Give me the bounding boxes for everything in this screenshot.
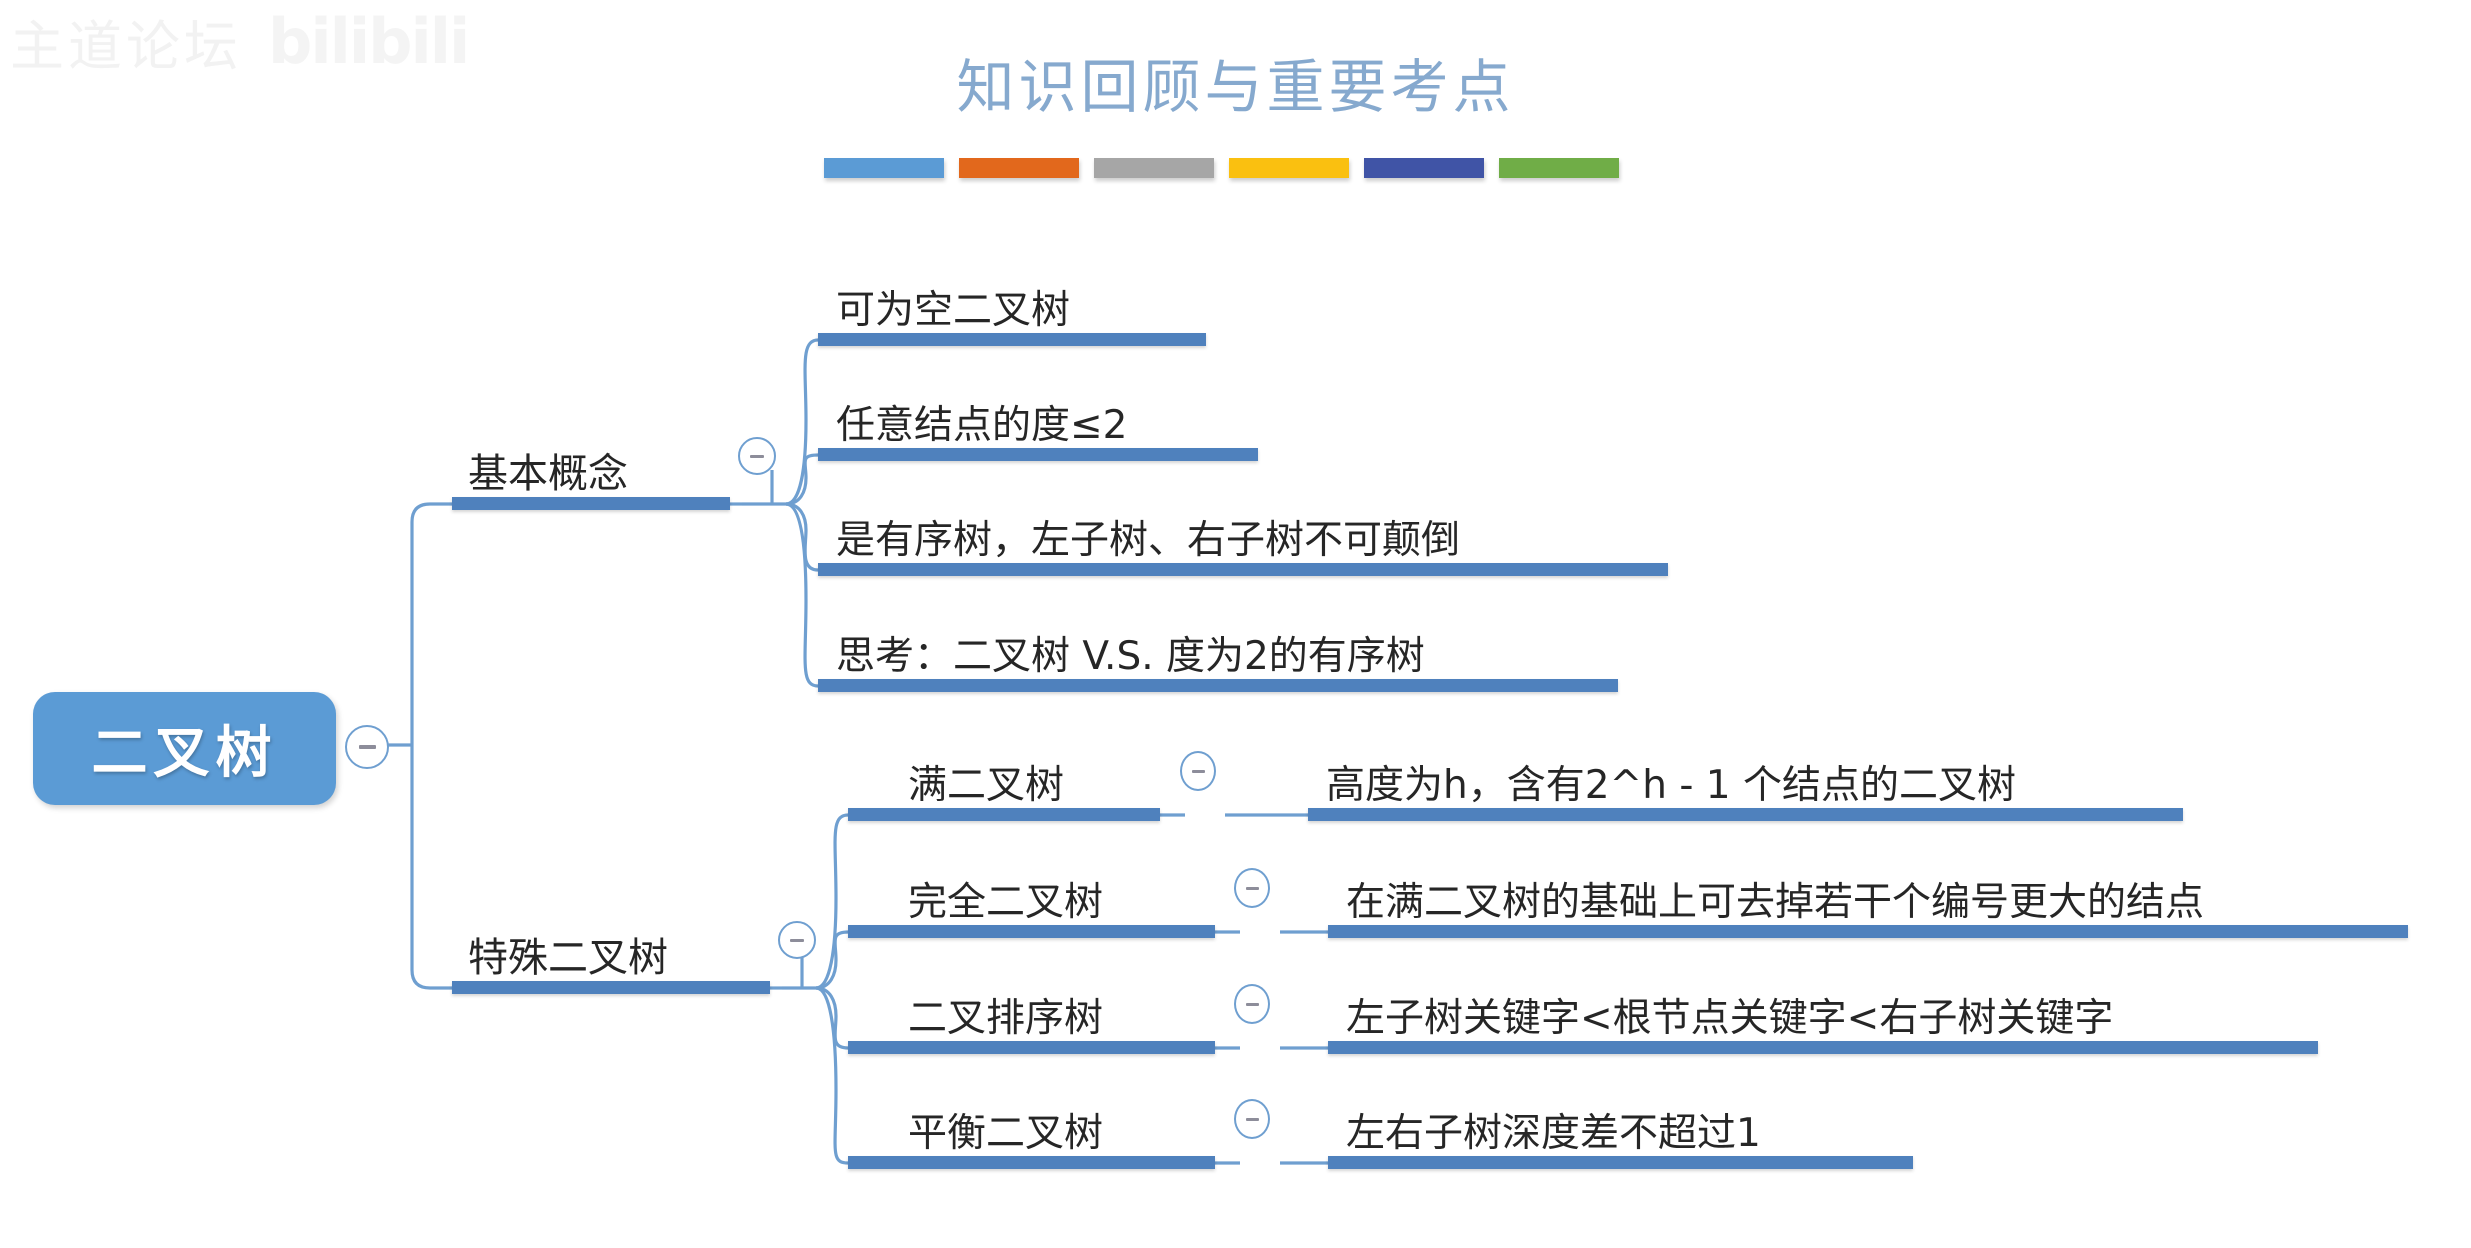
node-binary-search-tree-toggle[interactable] <box>1234 984 1270 1024</box>
minus-icon <box>1246 887 1259 890</box>
branch-basic-concepts-label: 基本概念 <box>468 441 628 499</box>
node-full-binary-tree-toggle[interactable] <box>1180 751 1216 791</box>
node-label: 可为空二叉树 <box>836 279 1070 335</box>
branch-special-binary-trees-label: 特殊二叉树 <box>468 925 668 983</box>
branch-basic-concepts-toggle[interactable] <box>738 437 776 475</box>
node-label: 左子树关键字<根节点关键字<右子树关键字 <box>1346 987 2113 1043</box>
minus-icon <box>1246 1003 1259 1006</box>
title-accent-bars <box>824 158 1619 178</box>
node-complete-binary-tree[interactable]: 完全二叉树 <box>848 858 1215 938</box>
accent-bar-navy <box>1364 158 1484 178</box>
node-underline-bar <box>1308 808 2183 821</box>
node-ordered-tree[interactable]: 是有序树，左子树、右子树不可颠倒 <box>818 496 1668 576</box>
node-balanced-binary-tree-toggle[interactable] <box>1234 1099 1270 1139</box>
node-underline-bar <box>848 808 1160 821</box>
node-label: 二叉排序树 <box>908 987 1103 1043</box>
node-underline-bar <box>848 1041 1215 1054</box>
node-full-binary-tree-detail[interactable]: 高度为h，含有2^h - 1 个结点的二叉树 <box>1308 741 2183 821</box>
node-label: 完全二叉树 <box>908 871 1103 927</box>
node-balanced-binary-tree-detail[interactable]: 左右子树深度差不超过1 <box>1328 1089 1913 1169</box>
node-label: 任意结点的度≤2 <box>836 394 1128 450</box>
node-label: 高度为h，含有2^h - 1 个结点的二叉树 <box>1326 754 2016 810</box>
node-binary-search-tree[interactable]: 二叉排序树 <box>848 974 1215 1054</box>
node-underline-bar <box>1328 1041 2318 1054</box>
node-underline-bar <box>818 563 1668 576</box>
minus-icon <box>1246 1118 1259 1121</box>
accent-bar-gray <box>1094 158 1214 178</box>
accent-bar-green <box>1499 158 1619 178</box>
branch-underline-bar <box>452 981 770 994</box>
branch-underline-bar <box>452 497 730 510</box>
node-label: 左右子树深度差不超过1 <box>1346 1102 1761 1158</box>
minus-icon <box>750 455 764 458</box>
branch-basic-concepts[interactable]: 基本概念 <box>452 430 730 510</box>
branch-special-binary-trees-toggle[interactable] <box>778 921 816 959</box>
node-complete-binary-tree-toggle[interactable] <box>1234 868 1270 908</box>
node-think-compare[interactable]: 思考：二叉树 V.S. 度为2的有序树 <box>818 612 1618 692</box>
minus-icon <box>790 939 804 942</box>
node-full-binary-tree[interactable]: 满二叉树 <box>848 741 1160 821</box>
root-node[interactable]: 二叉树 <box>33 692 336 805</box>
node-underline-bar <box>818 333 1206 346</box>
page-title: 知识回顾与重要考点 <box>0 40 2471 124</box>
node-binary-search-tree-detail[interactable]: 左子树关键字<根节点关键字<右子树关键字 <box>1328 974 2318 1054</box>
accent-bar-blue <box>824 158 944 178</box>
node-underline-bar <box>848 925 1215 938</box>
mindmap-canvas: 主道论坛 bilibili 知识回顾与重要考点 <box>0 0 2471 1248</box>
root-node-label: 二叉树 <box>92 708 278 789</box>
branch-special-binary-trees[interactable]: 特殊二叉树 <box>452 914 770 994</box>
node-label: 是有序树，左子树、右子树不可颠倒 <box>836 509 1460 565</box>
node-degree-at-most-two[interactable]: 任意结点的度≤2 <box>818 381 1258 461</box>
root-collapse-toggle[interactable] <box>345 725 389 769</box>
node-label: 平衡二叉树 <box>908 1102 1103 1158</box>
accent-bar-yellow <box>1229 158 1349 178</box>
node-underline-bar <box>818 679 1618 692</box>
node-underline-bar <box>848 1156 1215 1169</box>
node-underline-bar <box>1328 1156 1913 1169</box>
node-complete-binary-tree-detail[interactable]: 在满二叉树的基础上可去掉若干个编号更大的结点 <box>1328 858 2408 938</box>
node-label: 在满二叉树的基础上可去掉若干个编号更大的结点 <box>1346 871 2204 927</box>
node-balanced-binary-tree[interactable]: 平衡二叉树 <box>848 1089 1215 1169</box>
node-can-be-empty-binary-tree[interactable]: 可为空二叉树 <box>818 266 1206 346</box>
node-label: 满二叉树 <box>908 754 1064 810</box>
node-label: 思考：二叉树 V.S. 度为2的有序树 <box>836 625 1425 681</box>
node-underline-bar <box>1328 925 2408 938</box>
node-underline-bar <box>818 448 1258 461</box>
minus-icon <box>359 745 376 749</box>
accent-bar-orange <box>959 158 1079 178</box>
minus-icon <box>1192 770 1205 773</box>
